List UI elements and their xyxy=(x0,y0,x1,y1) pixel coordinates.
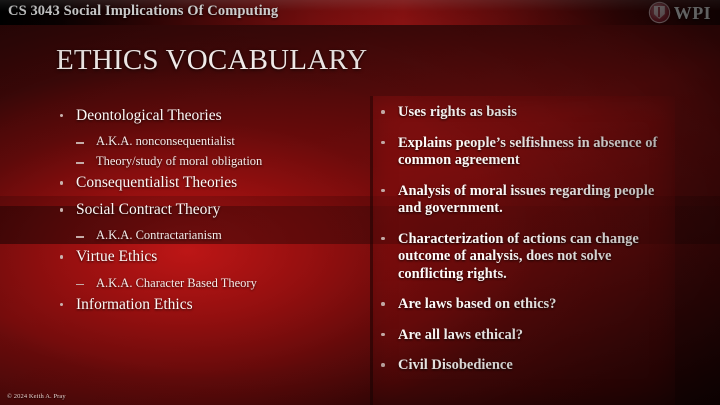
list-item-label: Social Contract Theory xyxy=(76,201,220,218)
list-item: Consequentialist Theories xyxy=(56,174,366,192)
sub-list-item-label: Theory/study of moral obligation xyxy=(96,154,262,168)
list-item: Information Ethics xyxy=(56,296,366,314)
sub-list-item-label: A.K.A. Contractarianism xyxy=(96,228,222,242)
list-item: Analysis of moral issues regarding peopl… xyxy=(378,183,666,218)
list-item: Explains people’s selfishness in absence… xyxy=(378,135,666,170)
list-item: Characterization of actions can change o… xyxy=(378,231,666,284)
list-item: Civil Disobedience xyxy=(378,357,666,375)
sub-list-item-label: A.K.A. Character Based Theory xyxy=(96,276,257,290)
list-item-label: Analysis of moral issues regarding peopl… xyxy=(398,183,654,217)
list-item-label: Virtue Ethics xyxy=(76,248,157,265)
list-item: Social Contract Theory xyxy=(56,201,366,219)
list-item: Uses rights as basis xyxy=(378,104,666,122)
sub-list-item-label: A.K.A. nonconsequentialist xyxy=(96,134,235,148)
right-column: Uses rights as basis Explains people’s s… xyxy=(378,104,666,388)
list-item-label: Characterization of actions can change o… xyxy=(398,231,639,282)
sub-list-item: A.K.A. Contractarianism xyxy=(74,228,366,243)
list-item-label: Are laws based on ethics? xyxy=(398,296,556,312)
copyright-notice: © 2024 Keith A. Pray xyxy=(7,393,66,400)
list-item-label: Consequentialist Theories xyxy=(76,174,237,191)
list-item-label: Civil Disobedience xyxy=(398,357,513,373)
sub-list-item: A.K.A. Character Based Theory xyxy=(74,276,366,291)
list-item-label: Information Ethics xyxy=(76,296,193,313)
wpi-branding: WPI xyxy=(650,1,711,24)
list-item: Deontological Theories xyxy=(56,107,366,125)
slide-header-bar: CS 3043 Social Implications Of Computing… xyxy=(0,0,720,25)
sub-list-item: A.K.A. nonconsequentialist xyxy=(74,134,366,149)
list-item-label: Uses rights as basis xyxy=(398,104,517,120)
left-column: Deontological Theories A.K.A. nonconsequ… xyxy=(56,107,366,323)
list-item: Are laws based on ethics? xyxy=(378,296,666,314)
list-item-label: Are all laws ethical? xyxy=(398,327,523,343)
list-item: Are all laws ethical? xyxy=(378,327,666,345)
course-title: CS 3043 Social Implications Of Computing xyxy=(8,3,278,20)
notes-list: Uses rights as basis Explains people’s s… xyxy=(378,104,666,375)
slide: CS 3043 Social Implications Of Computing… xyxy=(0,0,720,405)
page-title: ETHICS VOCABULARY xyxy=(56,44,367,77)
vocabulary-list: Deontological Theories A.K.A. nonconsequ… xyxy=(56,107,366,314)
list-item-label: Explains people’s selfishness in absence… xyxy=(398,135,657,169)
wpi-seal-icon xyxy=(650,3,669,22)
wpi-wordmark: WPI xyxy=(674,4,711,22)
list-item: Virtue Ethics xyxy=(56,248,366,266)
list-item-label: Deontological Theories xyxy=(76,107,222,124)
sub-list-item: Theory/study of moral obligation xyxy=(74,154,366,169)
